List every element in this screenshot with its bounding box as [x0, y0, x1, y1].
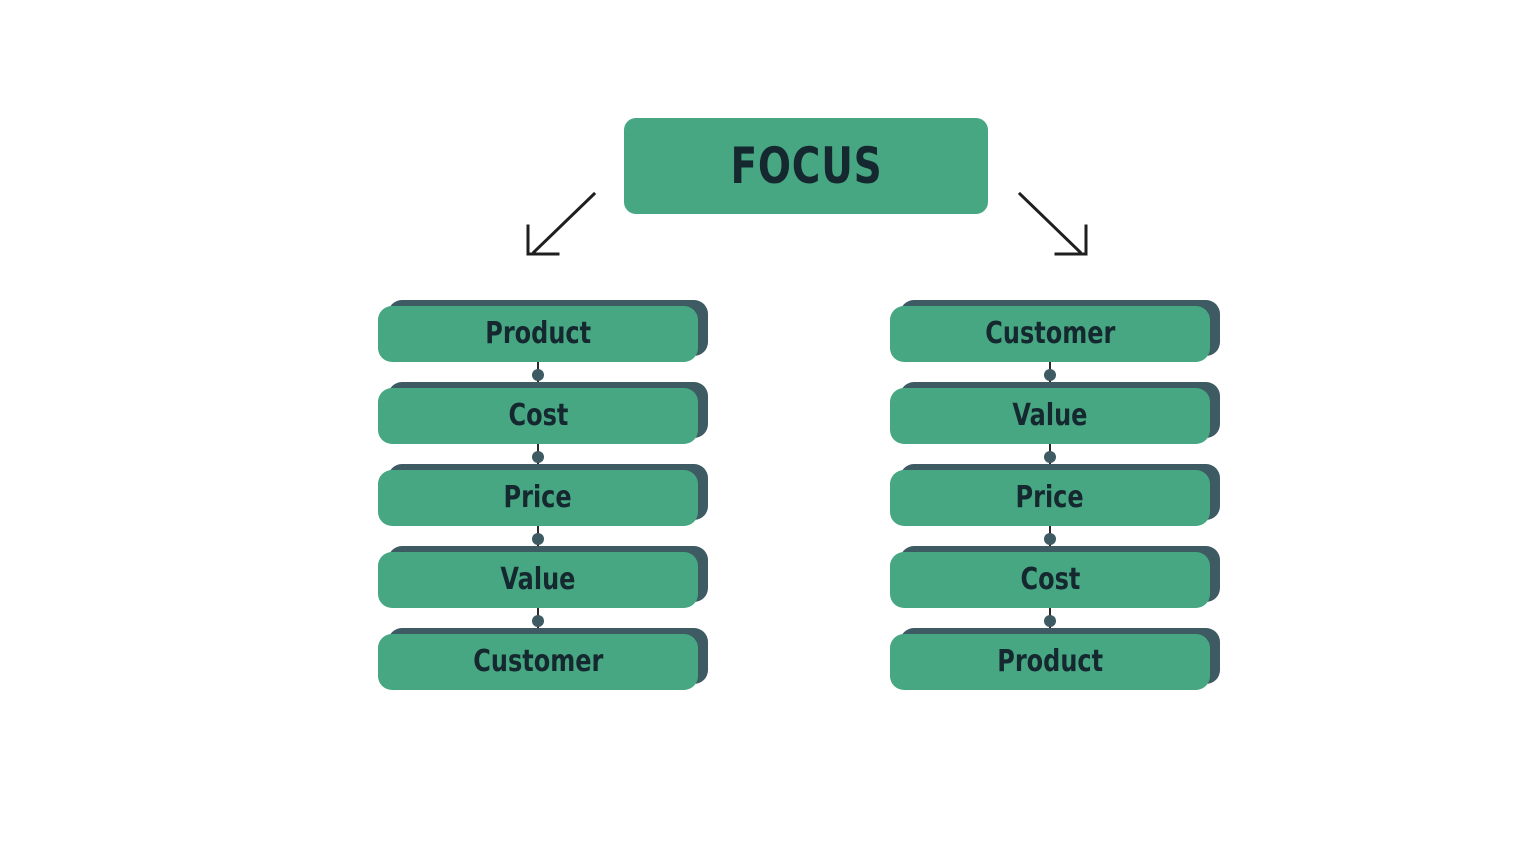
- arrow-to-left-branch-icon: [518, 190, 608, 266]
- node-face: Value: [890, 388, 1210, 444]
- node-label: Price: [504, 483, 572, 513]
- node-left-2[interactable]: Cost: [378, 388, 698, 444]
- chain-item: Value: [378, 552, 708, 608]
- chain-item: Customer: [378, 634, 708, 690]
- chain-item: Product: [378, 306, 708, 362]
- node-label: Cost: [1020, 565, 1080, 595]
- chain-item: Cost: [890, 552, 1220, 608]
- connector-dot-icon: [532, 369, 544, 381]
- left-branch-column: Product Cost Price: [378, 306, 708, 690]
- node-label: Customer: [985, 319, 1115, 349]
- node-right-2[interactable]: Value: [890, 388, 1210, 444]
- focus-chain-diagram: FOCUS Product Cost: [0, 0, 1536, 864]
- node-face: Cost: [890, 552, 1210, 608]
- arrow-to-right-branch-icon: [1010, 190, 1100, 266]
- node-face: Value: [378, 552, 698, 608]
- node-face: Customer: [890, 306, 1210, 362]
- chain-item: Price: [890, 470, 1220, 526]
- connector-dot-icon: [532, 615, 544, 627]
- connector-dot-icon: [532, 533, 544, 545]
- node-right-4[interactable]: Cost: [890, 552, 1210, 608]
- chain-item: Cost: [378, 388, 708, 444]
- node-label: Product: [997, 647, 1103, 677]
- node-label: Price: [1016, 483, 1084, 513]
- node-face: Product: [378, 306, 698, 362]
- connector-dot-icon: [1044, 615, 1056, 627]
- chain-item: Customer: [890, 306, 1220, 362]
- node-face: Price: [890, 470, 1210, 526]
- connector-dot-icon: [1044, 533, 1056, 545]
- node-label: Customer: [473, 647, 603, 677]
- focus-root-node[interactable]: FOCUS: [624, 118, 988, 214]
- node-right-3[interactable]: Price: [890, 470, 1210, 526]
- node-left-4[interactable]: Value: [378, 552, 698, 608]
- chain-item: Product: [890, 634, 1220, 690]
- right-branch-column: Customer Value Price: [890, 306, 1220, 690]
- connector-dot-icon: [1044, 369, 1056, 381]
- node-label: Value: [500, 565, 575, 595]
- node-right-5[interactable]: Product: [890, 634, 1210, 690]
- node-face: Price: [378, 470, 698, 526]
- node-face: Customer: [378, 634, 698, 690]
- node-label: Product: [485, 319, 591, 349]
- focus-root-label: FOCUS: [730, 141, 882, 191]
- chain-item: Value: [890, 388, 1220, 444]
- node-left-3[interactable]: Price: [378, 470, 698, 526]
- node-right-1[interactable]: Customer: [890, 306, 1210, 362]
- chain-item: Price: [378, 470, 708, 526]
- node-label: Cost: [508, 401, 568, 431]
- node-left-5[interactable]: Customer: [378, 634, 698, 690]
- node-left-1[interactable]: Product: [378, 306, 698, 362]
- node-label: Value: [1012, 401, 1087, 431]
- node-face: Product: [890, 634, 1210, 690]
- connector-dot-icon: [532, 451, 544, 463]
- node-face: Cost: [378, 388, 698, 444]
- connector-dot-icon: [1044, 451, 1056, 463]
